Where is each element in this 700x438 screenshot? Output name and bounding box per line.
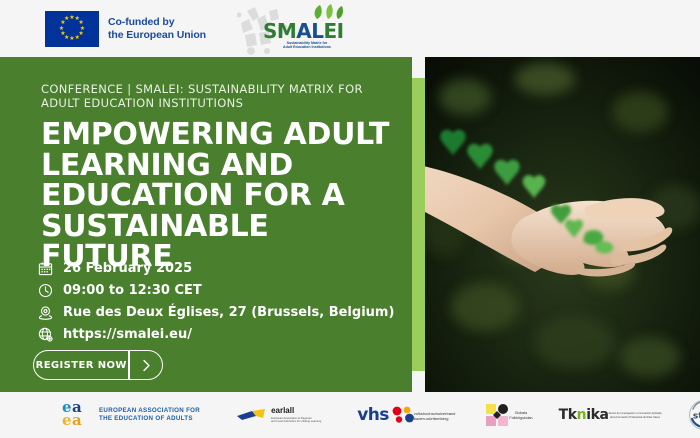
partner-logo-tknika: Tknika Zentro de Investigación e Innovac… [559, 408, 662, 422]
clock-icon [38, 281, 59, 299]
eu-star-icon: ★ [59, 26, 64, 32]
detail-time-text: 09:00 to 12:30 CET [63, 283, 202, 298]
chevron-right-icon [130, 359, 162, 372]
globe-icon [38, 325, 59, 343]
vhs-dots-icon [392, 406, 414, 424]
eu-funding-text: Co-funded by the European Union [108, 16, 206, 41]
vhs-wordmark: vhs [357, 407, 389, 424]
earlall-mark-icon [236, 407, 266, 423]
eu-star-icon: ★ [75, 35, 80, 41]
calendar-icon [38, 259, 59, 277]
accent-bar [412, 78, 425, 371]
tknika-wordmark-part1: Tk [559, 407, 577, 423]
vhs-subtitle: volkshochschulverband baden-württemberg [414, 411, 456, 421]
partner-logo-stop: stop [687, 398, 700, 432]
smalei-wordmark: SMALEI [263, 19, 344, 43]
hand-with-leaves-illustration [425, 57, 700, 392]
smalei-logo: SMALEI Sustainability Matrix for Adult E… [235, 1, 355, 57]
partner-logo-eaea: e a e a EUROPEAN ASSOCIATION FOR THE EDU… [62, 400, 200, 430]
smalei-wordmark-sm: SM [263, 19, 296, 43]
event-poster: ★★★★★★★★★★★★ Co-funded by the European U… [0, 0, 700, 438]
detail-website: https://smalei.eu/ [38, 324, 394, 344]
detail-location: Rue des Deux Églises, 27 (Brussels, Belg… [38, 302, 394, 322]
globala-mark-icon [485, 403, 509, 427]
detail-date-text: 26 February 2025 [63, 261, 192, 276]
eaea-mark-icon: e a e a [62, 400, 92, 430]
eaea-name: EUROPEAN ASSOCIATION FOR THE EDUCATION O… [99, 407, 200, 423]
eu-star-icon: ★ [60, 31, 65, 37]
smalei-subtitle: Sustainability Matrix for Adult Educatio… [259, 41, 355, 50]
tknika-wordmark-part2: ika [586, 407, 608, 423]
earlall-name: earlall [271, 406, 321, 415]
page-title: EMPOWERING ADULT LEARNING AND EDUCATION … [41, 120, 391, 273]
earlall-subtitle: European Association of Regional and Loc… [271, 417, 321, 424]
eu-star-icon: ★ [64, 16, 69, 22]
detail-location-text: Rue des Deux Églises, 27 (Brussels, Belg… [63, 305, 394, 320]
hero-photo [425, 57, 700, 392]
svg-text:stop: stop [693, 412, 700, 422]
leaf-icon [311, 4, 345, 20]
globala-name: Globala Folkhögskolan [509, 411, 532, 420]
eu-star-icon: ★ [69, 36, 74, 42]
partner-logo-vhs: vhs volkshochschulverband baden-württemb… [357, 406, 455, 424]
detail-date: 26 February 2025 [38, 258, 394, 278]
partner-logo-earlall: earlall European Association of Regional… [236, 406, 321, 423]
eu-funding-logo: ★★★★★★★★★★★★ Co-funded by the European U… [45, 11, 206, 47]
detail-time: 09:00 to 12:30 CET [38, 280, 394, 300]
location-pin-icon [38, 303, 59, 321]
tknika-subtitle: Zentro de Investigación e Innovación Apl… [609, 412, 662, 419]
footer-partner-logos: e a e a EUROPEAN ASSOCIATION FOR THE EDU… [0, 392, 700, 438]
tknika-wordmark-accent: n [577, 407, 587, 423]
eu-flag-icon: ★★★★★★★★★★★★ [45, 11, 99, 47]
smalei-wordmark-al: AL [296, 19, 323, 43]
stop-mark-icon: stop [687, 398, 700, 432]
partner-logo-globala: Globala Folkhögskolan [485, 403, 532, 427]
register-now-label: REGISTER NOW [34, 360, 128, 371]
conference-kicker: CONFERENCE | SMALEI: SUSTAINABILITY MATR… [41, 82, 381, 110]
header-bar: ★★★★★★★★★★★★ Co-funded by the European U… [0, 0, 700, 57]
smalei-wordmark-ei: EI [324, 19, 344, 43]
detail-website-text: https://smalei.eu/ [63, 327, 192, 342]
register-now-button[interactable]: REGISTER NOW [33, 350, 163, 380]
event-details-list: 26 February 2025 09:00 to 12:30 CET Rue … [38, 258, 394, 346]
